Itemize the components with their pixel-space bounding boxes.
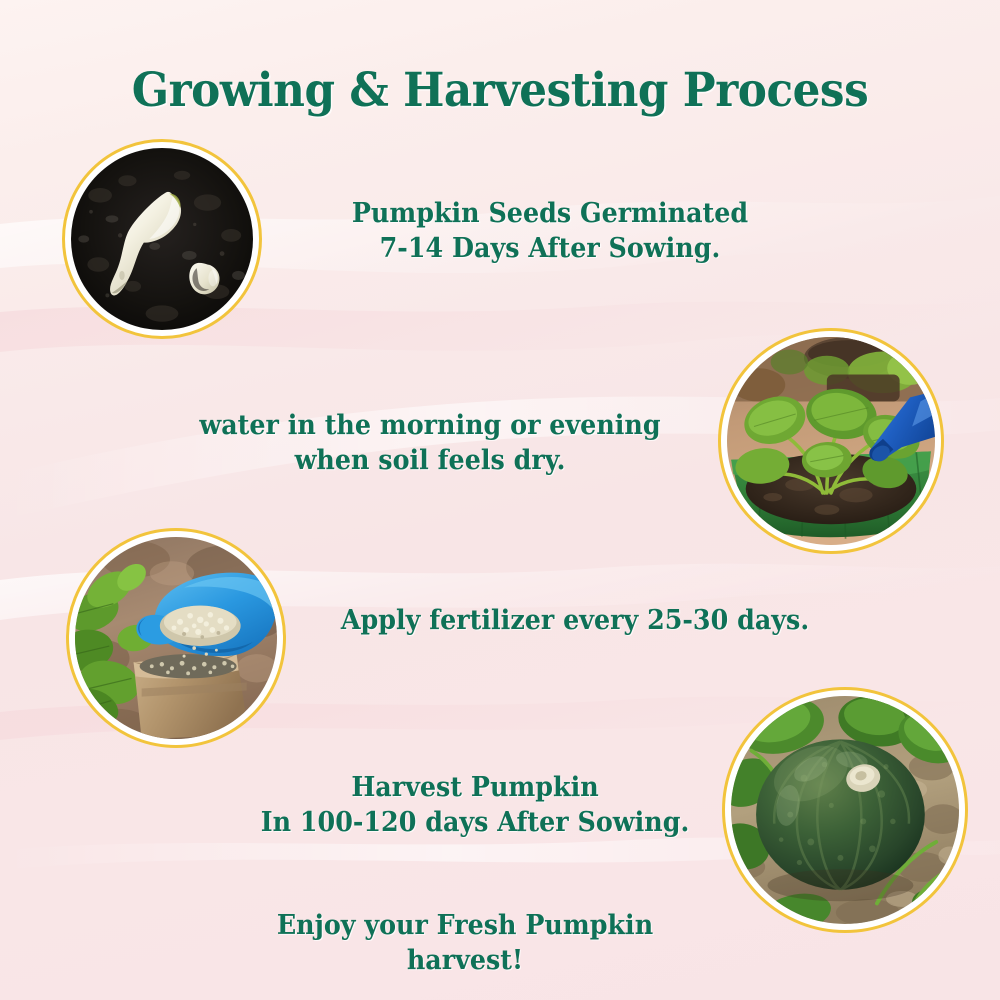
photo-disc	[75, 537, 277, 739]
mature-pumpkin-photo	[722, 687, 968, 933]
applying-fertilizer-photo	[66, 528, 286, 748]
caption-enjoy: Enjoy your Fresh Pumpkin harvest!	[230, 908, 700, 978]
photo-disc	[71, 148, 253, 330]
caption-germination: Pumpkin Seeds Germinated 7-14 Days After…	[315, 196, 785, 266]
caption-watering: water in the morning or evening when soi…	[167, 408, 693, 478]
photo-disc	[731, 696, 959, 924]
germinating-pumpkin-seeds-photo	[62, 139, 262, 339]
caption-harvest: Harvest Pumpkin In 100-120 days After So…	[231, 770, 720, 840]
watering-seedling-photo	[718, 328, 944, 554]
caption-fertilizing: Apply fertilizer every 25-30 days.	[298, 603, 853, 638]
page-title: Growing & Harvesting Process	[35, 63, 965, 118]
photo-disc	[727, 337, 935, 545]
infographic-poster: Growing & Harvesting Process	[0, 0, 1000, 1000]
